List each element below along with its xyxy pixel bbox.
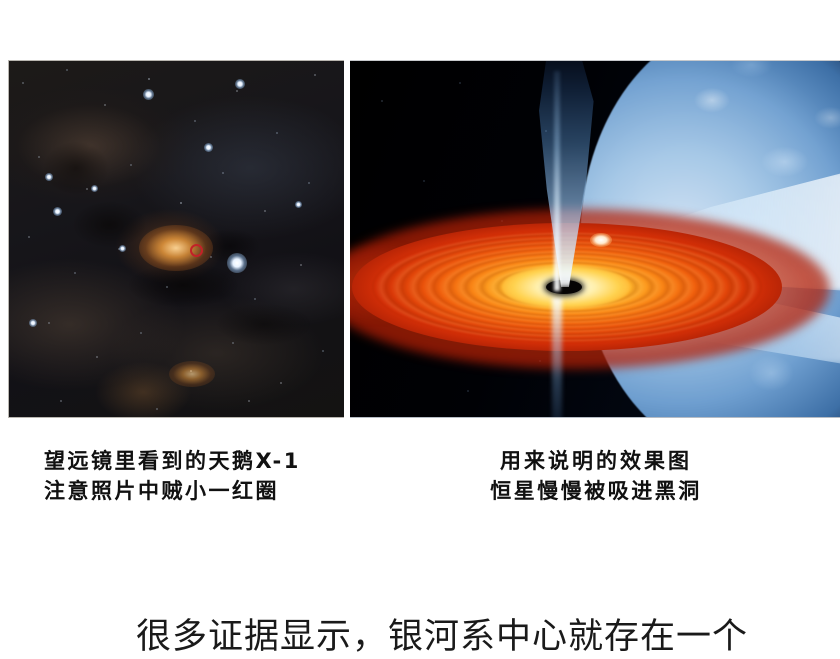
image-panel-row — [8, 60, 840, 418]
bright-star-upper-left — [143, 89, 154, 100]
left-caption-line-1: 望远镜里看到的天鹅X-1 — [44, 446, 301, 476]
bright-star-left — [45, 173, 53, 181]
bright-star-near-glow — [119, 245, 126, 252]
bright-star-right — [295, 201, 302, 208]
right-caption-line-2: 恒星慢慢被吸进黑洞 — [466, 476, 726, 506]
right-caption-line-1: 用来说明的效果图 — [466, 446, 726, 476]
bright-star-center-left — [91, 185, 98, 192]
orange-nebula-glow-lower — [169, 361, 215, 387]
bright-star-mid-upper — [204, 143, 213, 152]
right-panel-caption: 用来说明的效果图 恒星慢慢被吸进黑洞 — [466, 446, 726, 506]
black-hole-illustration-panel — [350, 60, 840, 418]
bright-star-lower-left — [29, 319, 37, 327]
left-caption-line-2: 注意照片中贼小一红圈 — [44, 476, 301, 506]
telescope-photo-panel — [8, 60, 344, 418]
bright-star-left-lower — [53, 207, 62, 216]
left-panel-caption: 望远镜里看到的天鹅X-1 注意照片中贼小一红圈 — [44, 446, 301, 506]
relativistic-jet-core — [554, 71, 560, 291]
gas-stream-hotspot — [590, 233, 612, 247]
narration-text: 很多证据显示，银河系中心就存在一个 — [136, 608, 748, 659]
relativistic-jet-downward — [552, 297, 562, 418]
cygnus-x1-red-circle-marker — [190, 244, 203, 257]
bright-star-primary — [227, 253, 247, 273]
bright-star-upper-right — [235, 79, 245, 89]
